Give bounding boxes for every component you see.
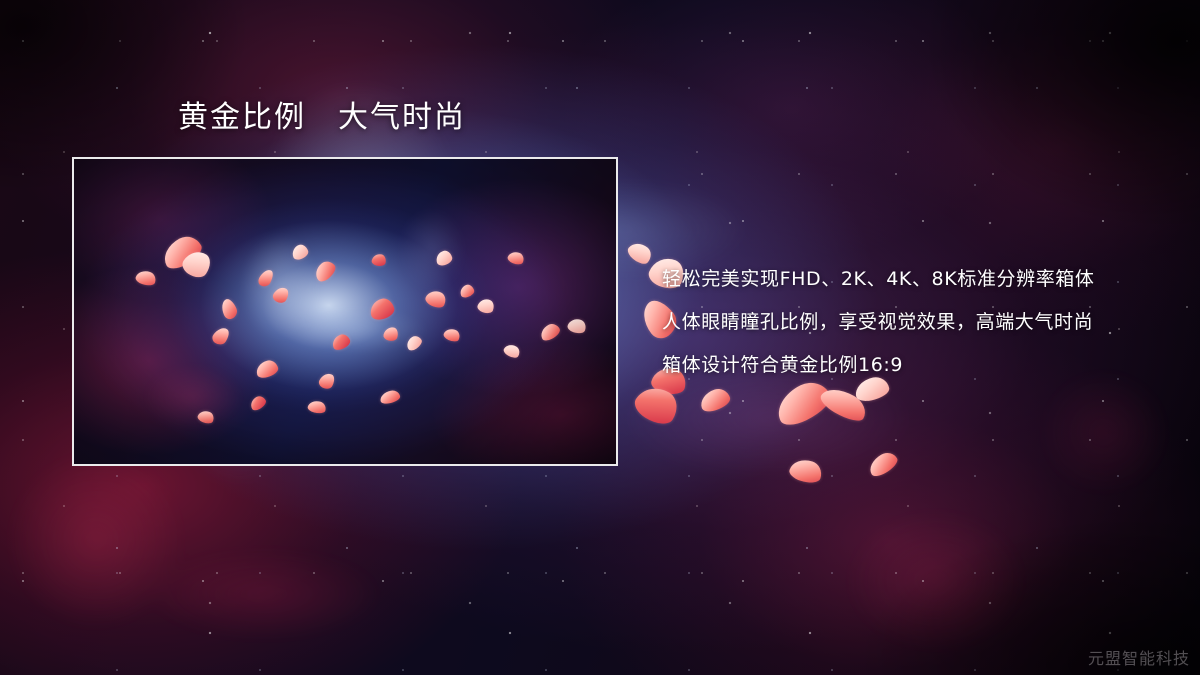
presentation-slide: 黄金比例 大气时尚 轻松完美实现FHD、2K、4K、8K标准分辨率箱体 人体眼睛… — [0, 0, 1200, 675]
description-line-3: 箱体设计符合黄金比例16:9 — [662, 344, 1162, 387]
description-block: 轻松完美实现FHD、2K、4K、8K标准分辨率箱体 人体眼睛瞳孔比例，享受视觉效… — [662, 258, 1162, 387]
frame-vignette — [74, 159, 616, 464]
description-line-2: 人体眼睛瞳孔比例，享受视觉效果，高端大气时尚 — [662, 301, 1162, 344]
framed-display-image — [72, 157, 618, 466]
page-title: 黄金比例 大气时尚 — [178, 100, 466, 136]
watermark: 元盟智能科技 — [1088, 645, 1190, 669]
description-line-1: 轻松完美实现FHD、2K、4K、8K标准分辨率箱体 — [662, 258, 1162, 301]
